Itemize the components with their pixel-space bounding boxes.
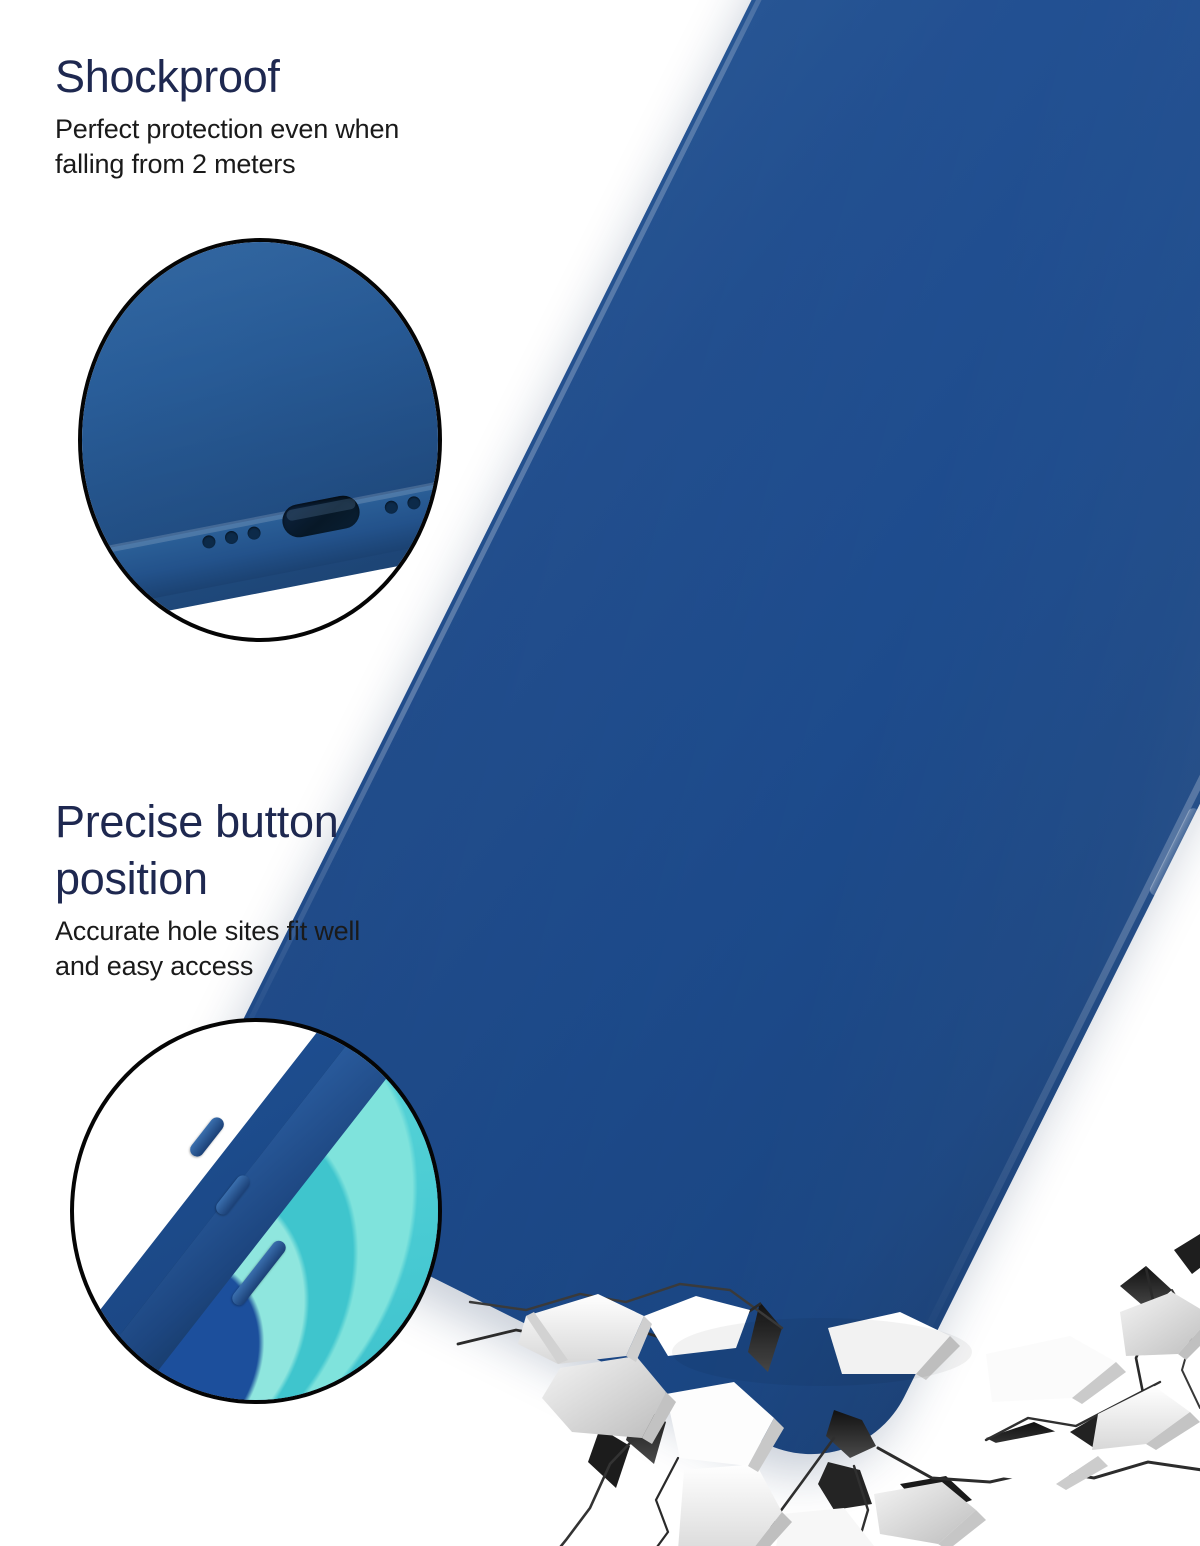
speaker-hole-icon xyxy=(429,491,438,506)
feature-subtitle-button-position: Accurate hole sites fit well and easy ac… xyxy=(55,914,360,984)
feature-block-button-position: Precise button position Accurate hole si… xyxy=(55,793,360,984)
inset-circle-side-buttons xyxy=(70,1018,442,1404)
feature-subtitle-shockproof: Perfect protection even when falling fro… xyxy=(55,112,399,182)
speaker-hole-icon xyxy=(384,500,399,515)
feature-title-shockproof: Shockproof xyxy=(55,48,399,105)
inset-button-content xyxy=(74,1022,438,1400)
inset-port-content xyxy=(82,242,438,638)
feature-graphic-canvas: Shockproof Perfect protection even when … xyxy=(0,0,1200,1546)
mic-hole-icon xyxy=(246,525,261,540)
speaker-hole-icon xyxy=(406,495,421,510)
mic-hole-icon xyxy=(224,530,239,545)
mic-hole-icon xyxy=(201,534,216,549)
inset-circle-charging-port xyxy=(78,238,442,642)
side-button-cutout-icon xyxy=(187,1115,226,1160)
feature-block-shockproof: Shockproof Perfect protection even when … xyxy=(55,48,399,182)
feature-title-button-position: Precise button position xyxy=(55,793,360,907)
